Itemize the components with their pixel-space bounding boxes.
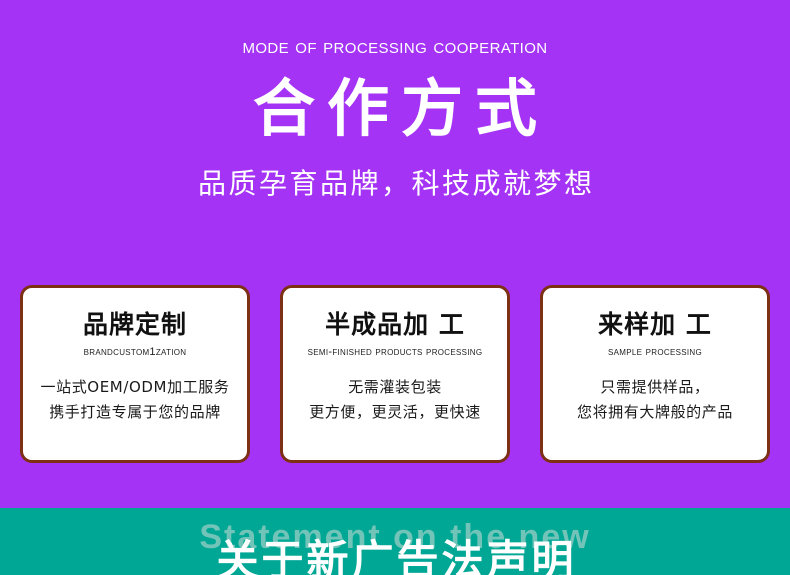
card-description-line: 携手打造专属于您的品牌	[33, 400, 237, 425]
band-section-title: 关于新广告法声明	[0, 538, 790, 575]
card-description-line: 一站式OEM/ODM加工服务	[33, 375, 237, 400]
card-description-line: 更方便，更灵活，更快速	[293, 400, 497, 425]
card-description: 一站式OEM/ODM加工服务 携手打造专属于您的品牌	[33, 375, 237, 425]
card-english-subtitle: Brandcustom1zation	[33, 345, 237, 359]
hero-eyebrow-text: Mode of processing cooperation	[0, 35, 790, 59]
promo-banner-page: Mode of processing cooperation 合作方式 品质孕育…	[0, 0, 790, 575]
service-cards-row: 品牌定制 Brandcustom1zation 一站式OEM/ODM加工服务 携…	[20, 285, 770, 463]
card-description-line: 只需提供样品，	[553, 375, 757, 400]
card-title: 半成品加 工	[293, 310, 497, 340]
card-description: 无需灌装包装 更方便，更灵活，更快速	[293, 375, 497, 425]
card-english-subtitle: Semi-finished products processing	[293, 345, 497, 359]
card-title: 来样加 工	[553, 310, 757, 340]
hero-subtitle: 品质孕育品牌，科技成就梦想	[0, 166, 790, 202]
card-title: 品牌定制	[33, 310, 237, 340]
service-card-semi-finished-processing[interactable]: 半成品加 工 Semi-finished products processing…	[280, 285, 510, 463]
service-card-sample-processing[interactable]: 来样加 工 Sample processing 只需提供样品， 您将拥有大牌般的…	[540, 285, 770, 463]
card-english-subtitle: Sample processing	[553, 345, 757, 359]
card-description-line: 您将拥有大牌般的产品	[553, 400, 757, 425]
card-description: 只需提供样品， 您将拥有大牌般的产品	[553, 375, 757, 425]
hero-section: Mode of processing cooperation 合作方式 品质孕育…	[0, 0, 790, 508]
hero-main-title: 合作方式	[0, 76, 790, 142]
card-description-line: 无需灌装包装	[293, 375, 497, 400]
statement-section-band: Statement on the new 关于新广告法声明	[0, 508, 790, 575]
service-card-brand-customization[interactable]: 品牌定制 Brandcustom1zation 一站式OEM/ODM加工服务 携…	[20, 285, 250, 463]
